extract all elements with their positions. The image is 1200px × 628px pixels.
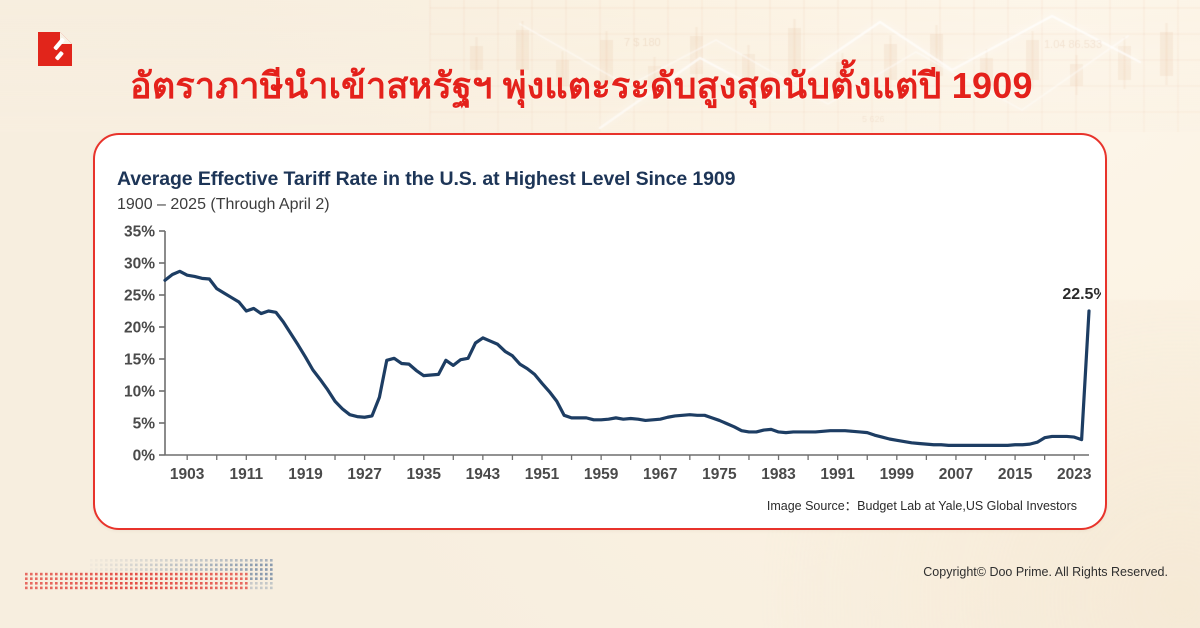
svg-text:1903: 1903 bbox=[170, 466, 205, 483]
svg-text:35%: 35% bbox=[124, 224, 155, 241]
svg-text:2023: 2023 bbox=[1057, 466, 1092, 483]
page-title: อัตราภาษีนำเข้าสหรัฐฯ พุ่งแตะระดับสูงสุด… bbox=[130, 56, 1170, 114]
svg-text:1999: 1999 bbox=[880, 466, 915, 483]
svg-text:1959: 1959 bbox=[584, 466, 619, 483]
svg-text:1967: 1967 bbox=[643, 466, 677, 483]
chart-plot-area: 0%5%10%15%20%25%30%35%190319111919192719… bbox=[103, 223, 1101, 493]
svg-text:1983: 1983 bbox=[761, 466, 796, 483]
svg-text:10%: 10% bbox=[124, 384, 155, 401]
svg-text:1927: 1927 bbox=[347, 466, 381, 483]
svg-text:1951: 1951 bbox=[525, 466, 560, 483]
svg-text:1911: 1911 bbox=[229, 466, 263, 483]
doo-prime-logo-icon bbox=[36, 30, 74, 68]
chart-title: Average Effective Tariff Rate in the U.S… bbox=[117, 168, 735, 191]
svg-text:2015: 2015 bbox=[998, 466, 1033, 483]
svg-text:20%: 20% bbox=[124, 320, 155, 337]
svg-text:25%: 25% bbox=[124, 288, 155, 305]
svg-text:0%: 0% bbox=[133, 448, 156, 465]
svg-text:1943: 1943 bbox=[466, 466, 501, 483]
svg-text:15%: 15% bbox=[124, 352, 155, 369]
svg-text:2007: 2007 bbox=[939, 466, 973, 483]
chart-subtitle: 1900 – 2025 (Through April 2) bbox=[117, 196, 330, 214]
copyright-text: Copyright© Doo Prime. All Rights Reserve… bbox=[923, 565, 1168, 579]
svg-text:1975: 1975 bbox=[702, 466, 737, 483]
tariff-rate-line-chart: 0%5%10%15%20%25%30%35%190319111919192719… bbox=[103, 223, 1101, 493]
svg-text:1935: 1935 bbox=[406, 466, 441, 483]
svg-text:22.5%: 22.5% bbox=[1062, 286, 1101, 303]
image-source-note: Image Source：Budget Lab at Yale,US Globa… bbox=[767, 495, 1077, 514]
svg-text:1919: 1919 bbox=[288, 466, 323, 483]
svg-text:1991: 1991 bbox=[820, 466, 855, 483]
svg-text:5%: 5% bbox=[133, 416, 156, 433]
halftone-dots-decoration bbox=[24, 558, 274, 592]
chart-card: Average Effective Tariff Rate in the U.S… bbox=[93, 133, 1107, 530]
svg-text:30%: 30% bbox=[124, 256, 155, 273]
